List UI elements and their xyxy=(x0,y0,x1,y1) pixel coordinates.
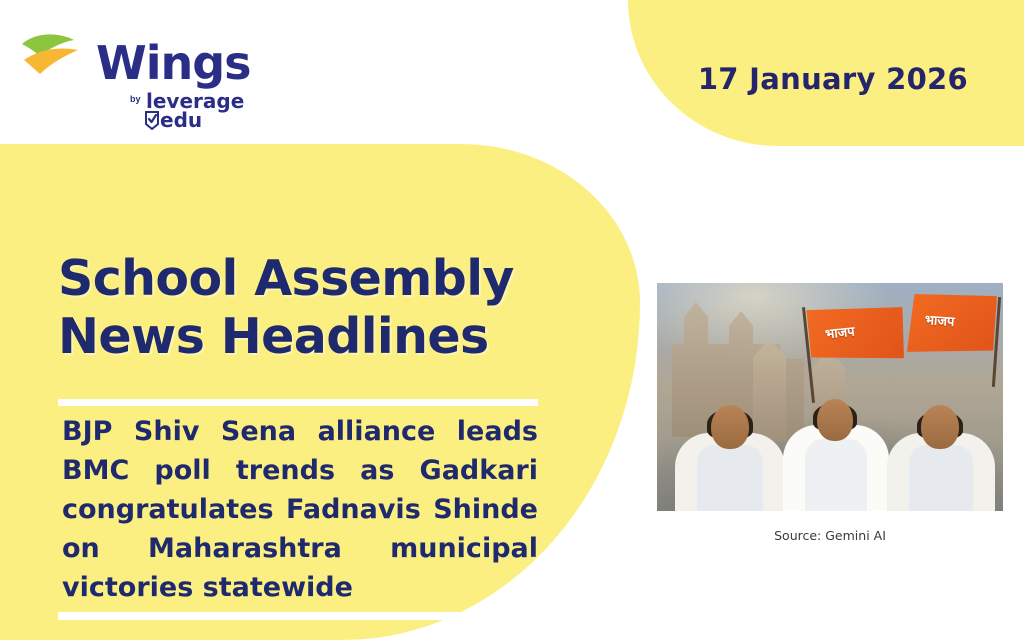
news-card: Wings by leverage edu 17 January 2026 Sc… xyxy=(0,0,1024,640)
page-title-line2: News Headlines xyxy=(58,308,578,366)
image-caption: Source: Gemini AI xyxy=(657,528,1003,543)
bottom-divider xyxy=(58,612,518,620)
subheadline: BJP Shiv Sena alliance leads BMC poll tr… xyxy=(62,412,538,607)
wings-swoosh-icon xyxy=(18,30,92,86)
brand-name: Wings xyxy=(96,40,251,86)
person-center xyxy=(777,383,895,511)
checkmark-icon xyxy=(144,110,160,130)
page-title-line1: School Assembly xyxy=(58,250,578,308)
page-title: School Assembly News Headlines xyxy=(58,250,578,366)
news-image-art: भाजप भाजप xyxy=(657,283,1003,511)
person-left xyxy=(671,393,789,511)
date-label: 17 January 2026 xyxy=(698,62,968,96)
brand-sub-name: leverage edu xyxy=(146,92,244,130)
brand-sub-name-line2: edu xyxy=(146,111,244,130)
news-image: भाजप भाजप xyxy=(657,283,1003,511)
person-right xyxy=(885,393,1001,511)
brand-logo[interactable]: Wings by leverage edu xyxy=(18,24,248,129)
brand-by-label: by xyxy=(130,94,141,104)
party-flag-right-text: भाजप xyxy=(924,310,955,330)
party-flag-left-text: भाजप xyxy=(824,322,855,343)
title-divider xyxy=(58,399,538,406)
